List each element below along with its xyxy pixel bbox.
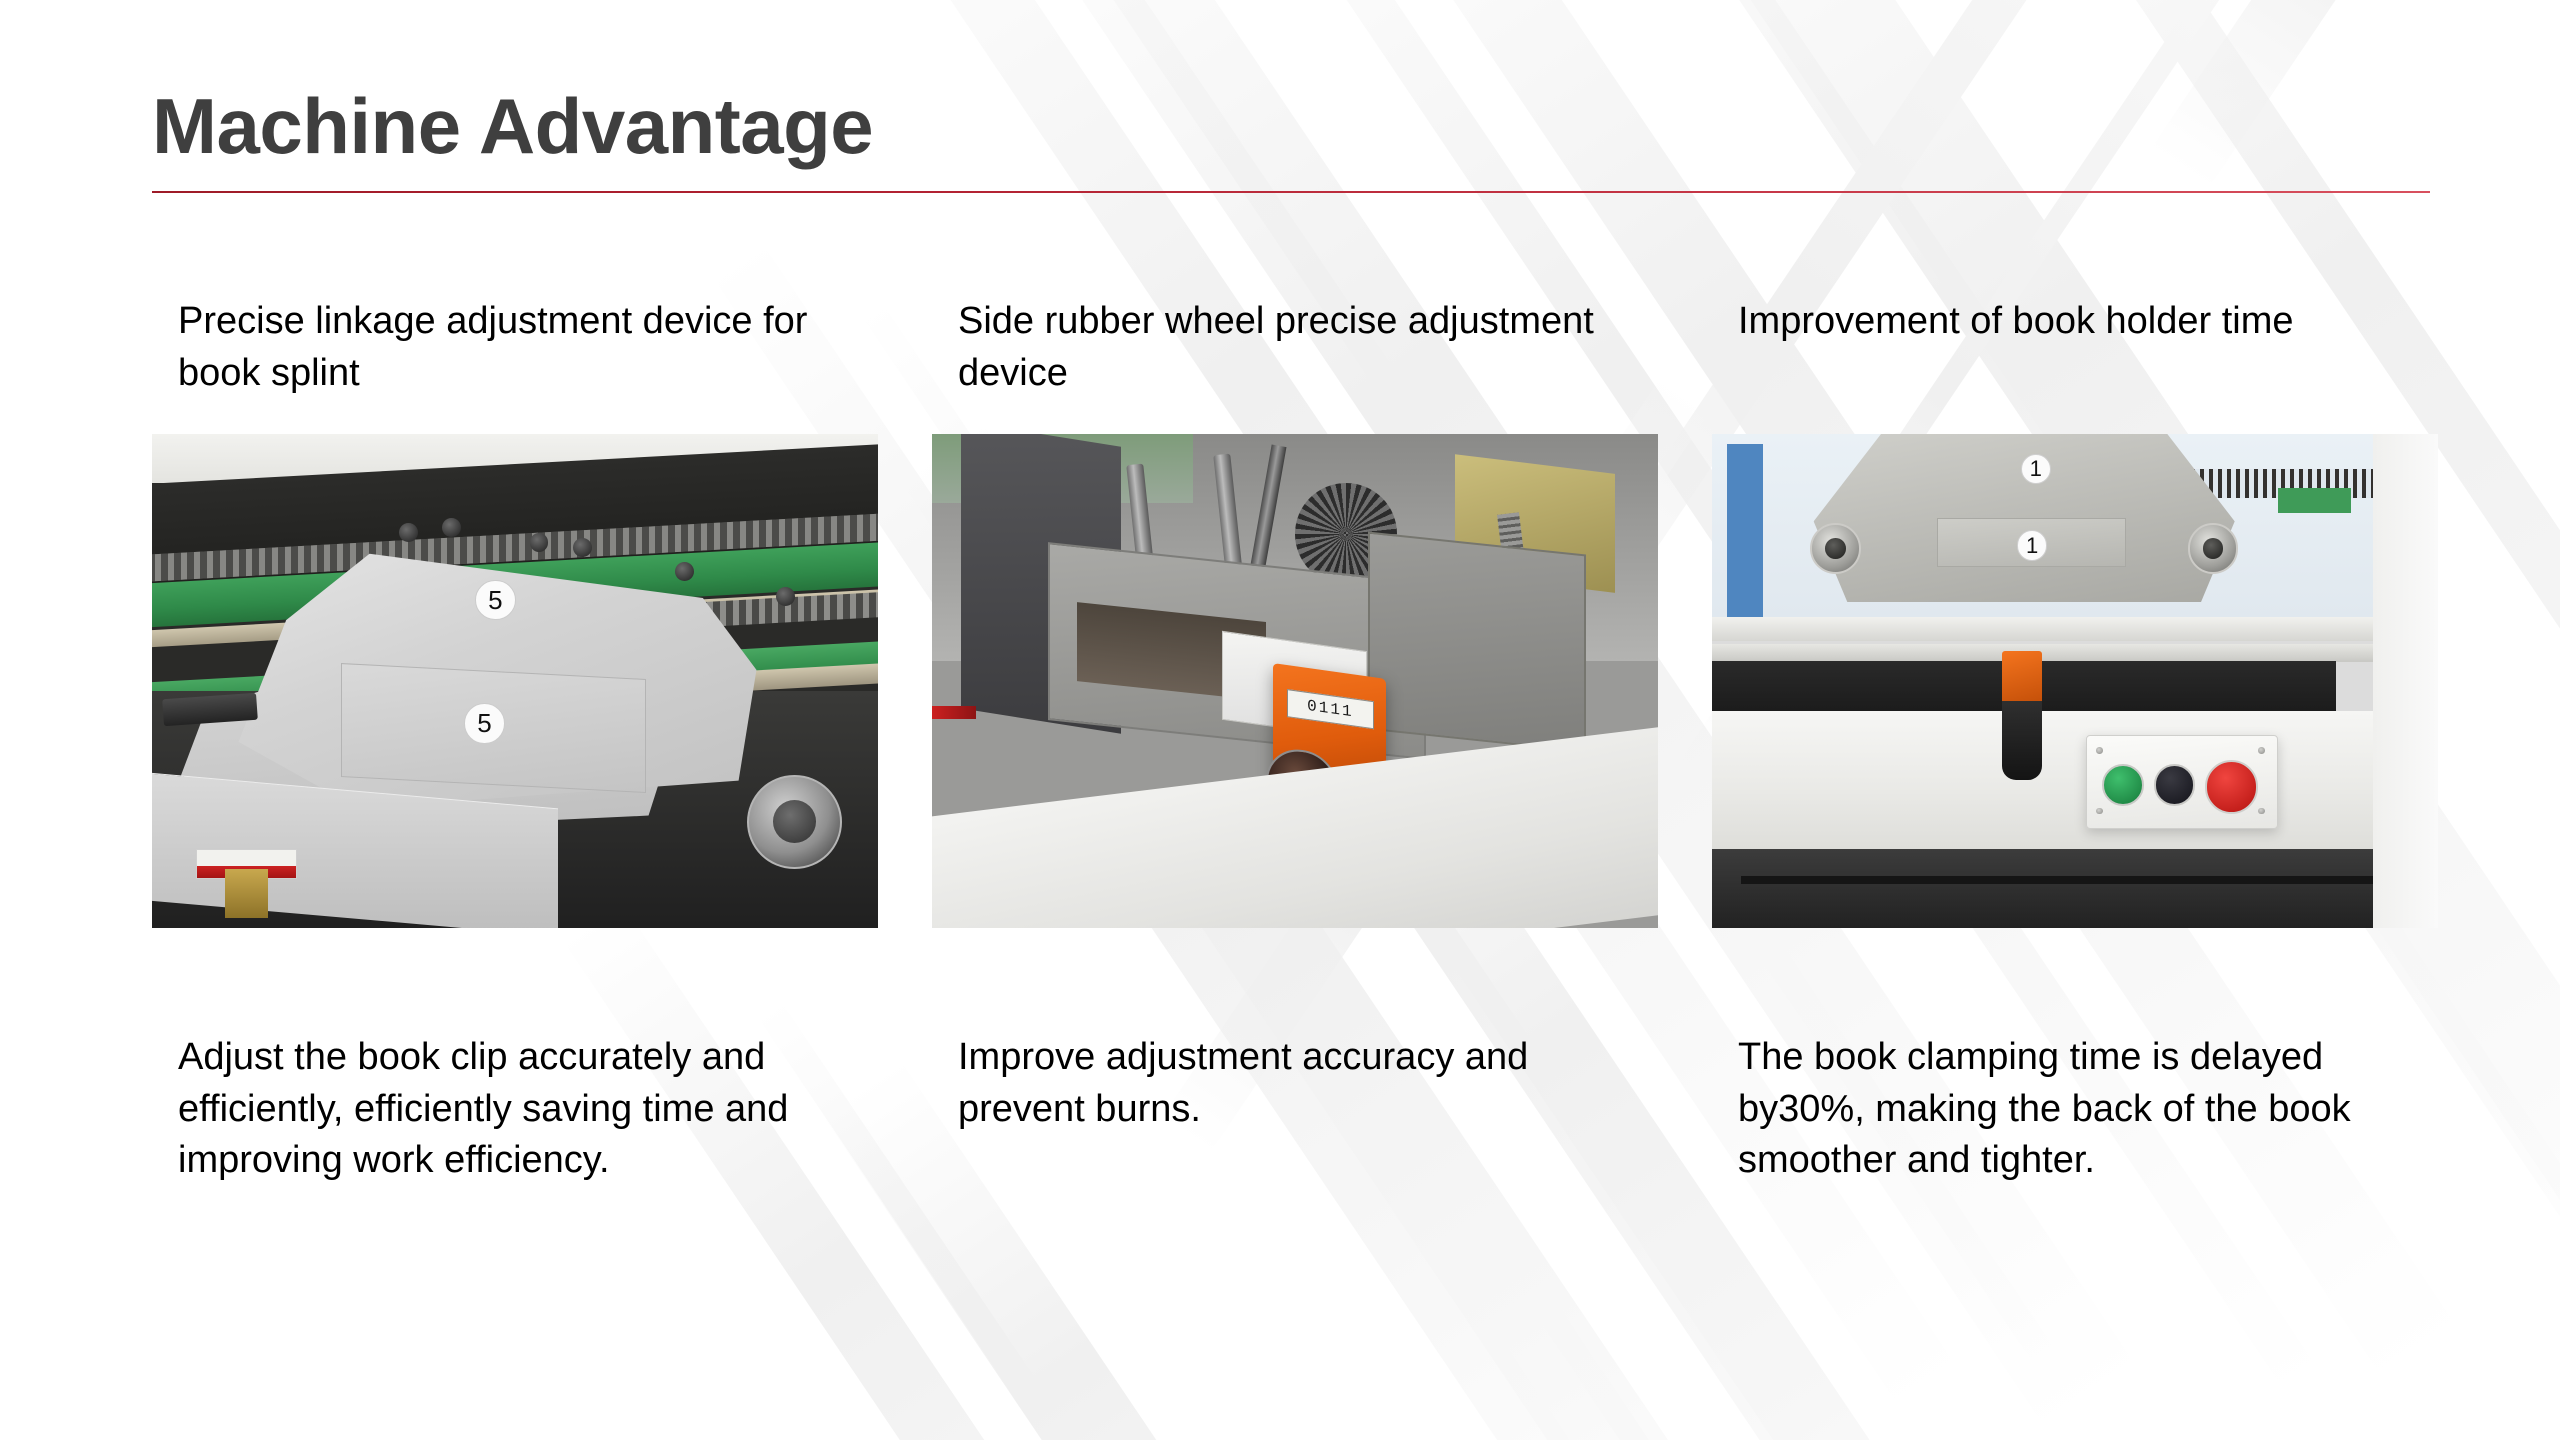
- feature-heading-2: Side rubber wheel precise adjustment dev…: [958, 296, 1658, 404]
- machine-splint-clamp-image: 5 5: [152, 434, 878, 928]
- slide-root: Machine Advantage Precise linkage adjust…: [0, 0, 2560, 1440]
- feature-photo-1: 5 5: [152, 434, 878, 928]
- feature-column-1: Precise linkage adjustment device for bo…: [152, 296, 878, 1187]
- page-title: Machine Advantage: [152, 86, 2430, 167]
- part-number-badge: 5: [464, 703, 505, 744]
- rubber-wheel-adjuster-image: 0111: [932, 434, 1658, 928]
- control-panel: [2086, 735, 2278, 829]
- feature-photo-2: 0111: [932, 434, 1658, 928]
- feature-caption-2: Improve adjustment accuracy and prevent …: [958, 1032, 1658, 1135]
- feature-heading-1: Precise linkage adjustment device for bo…: [178, 296, 878, 404]
- title-divider: [152, 191, 2430, 193]
- book-holder-control-image: 1 1: [1712, 434, 2438, 928]
- feature-caption-3: The book clamping time is delayed by30%,…: [1738, 1032, 2438, 1187]
- part-number-badge: 1: [2017, 530, 2047, 560]
- part-number-badge: 5: [475, 580, 516, 621]
- feature-photo-3: 1 1: [1712, 434, 2438, 928]
- feature-column-2: Side rubber wheel precise adjustment dev…: [932, 296, 1658, 1187]
- feature-caption-1: Adjust the book clip accurately and effi…: [178, 1032, 878, 1187]
- emergency-stop-button-red[interactable]: [2205, 760, 2258, 813]
- slide-header: Machine Advantage: [152, 86, 2430, 193]
- counter-value: 0111: [1287, 689, 1375, 730]
- start-button-green[interactable]: [2102, 764, 2144, 806]
- feature-heading-3: Improvement of book holder time: [1738, 296, 2438, 404]
- part-number-badge: 1: [2021, 454, 2051, 484]
- feature-column-3: Improvement of book holder time 1 1: [1712, 296, 2438, 1187]
- mode-button-black[interactable]: [2154, 764, 2196, 806]
- feature-columns: Precise linkage adjustment device for bo…: [152, 296, 2442, 1187]
- lever-handle-icon: [2002, 701, 2042, 780]
